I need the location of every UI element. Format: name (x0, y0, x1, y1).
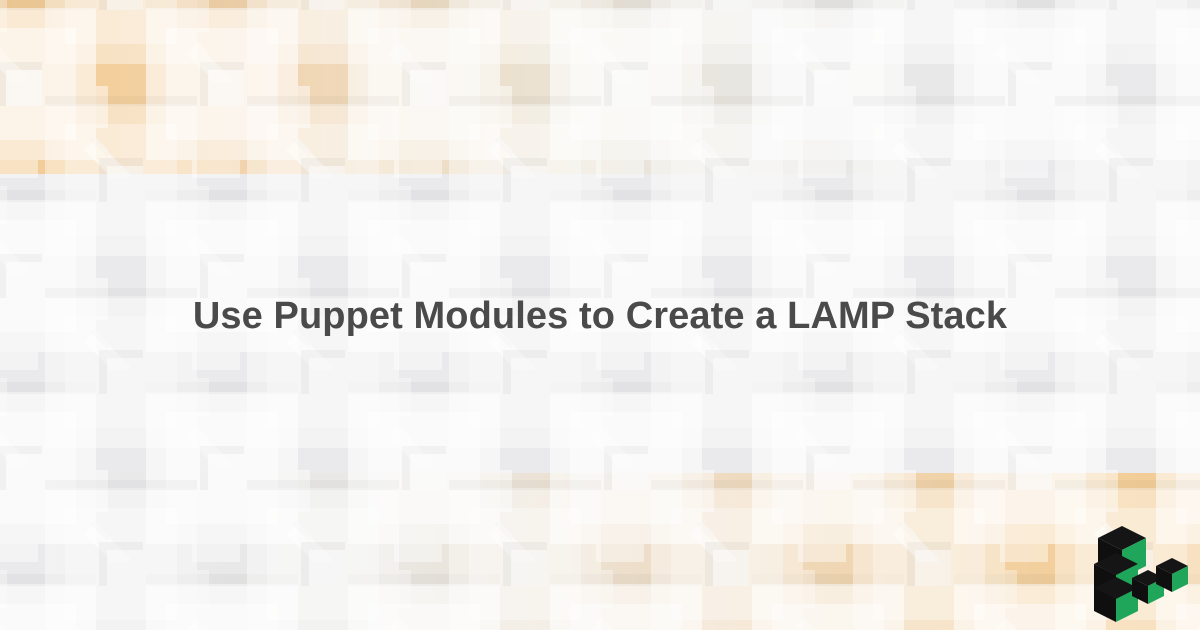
page-title: Use Puppet Modules to Create a LAMP Stac… (193, 292, 1007, 340)
title-container: Use Puppet Modules to Create a LAMP Stac… (0, 292, 1200, 340)
puppet-cubes-logo (1084, 512, 1194, 622)
og-banner-card: Use Puppet Modules to Create a LAMP Stac… (0, 0, 1200, 630)
